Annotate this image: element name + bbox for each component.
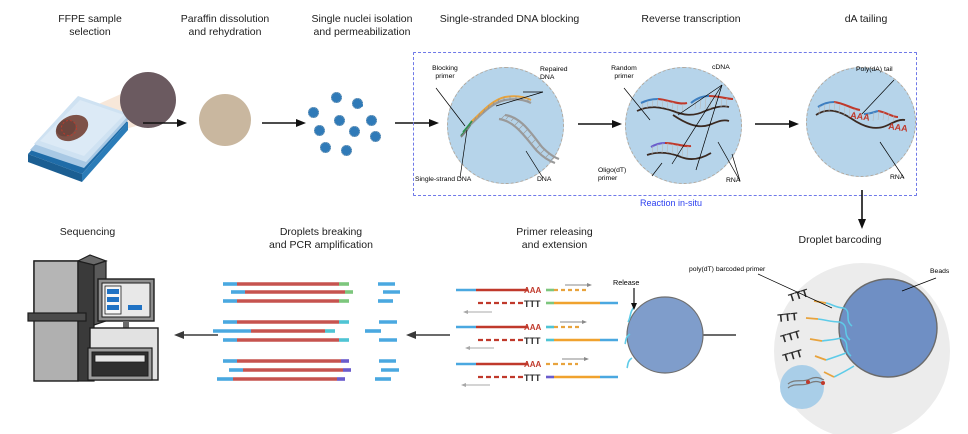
svg-text:AAA: AAA [524, 286, 542, 295]
callout-cdna: cDNA [712, 64, 752, 72]
nucleus-dot [366, 115, 377, 126]
arrow-rt-to-tailing [755, 118, 800, 130]
callout-random-primer: Random primer [598, 65, 650, 81]
paraffin-droplet [199, 94, 251, 146]
step-title-single-nuclei-isolation: Single nuclei isolation and permeabiliza… [288, 13, 436, 38]
nucleus-dot [331, 92, 342, 103]
callout-oligo-dt-primer: Oligo(dT) primer [598, 167, 656, 183]
step-title-da-tailing: dA tailing [806, 13, 926, 26]
arrow-ffpe-to-paraffin [143, 117, 188, 129]
svg-text:AAA: AAA [524, 323, 542, 332]
nucleus-dot [314, 125, 325, 136]
callout-dna: DNA [537, 176, 577, 184]
da-tailing-callout-lines [800, 58, 940, 188]
droplet-barcoding-illustration: TTT TTT TTT TTT TTT [740, 256, 968, 434]
step-title-droplet-barcoding: Droplet barcoding [778, 234, 902, 247]
svg-text:TTT: TTT [524, 299, 541, 309]
nucleus-dot [360, 104, 363, 107]
step-title-sequencing: Sequencing [30, 226, 145, 239]
primer-extension-strands: AAA TTT AAA TTT [440, 282, 640, 394]
reaction-in-situ-label: Reaction in-situ [640, 198, 702, 208]
svg-text:AAA: AAA [524, 360, 542, 369]
callout-single-strand-dna: Single-strand DNA [415, 176, 500, 184]
nucleus-dot [334, 115, 345, 126]
pcr-amplicon-products [213, 278, 403, 396]
step-title-reverse-transcription: Reverse transcription [612, 13, 770, 26]
sequencer-illustration [22, 255, 182, 385]
callout-rna-rt: RNA [726, 177, 760, 185]
step-title-ffpe-sample-selection: FFPE sample selection [20, 13, 160, 38]
single-nuclei-cluster [300, 85, 400, 175]
callout-beads: Beads [930, 268, 968, 276]
nucleus-dot [308, 107, 319, 118]
nucleus-dot [370, 131, 381, 142]
nucleus-dot [349, 126, 360, 137]
step-title-primer-releasing: Primer releasing and extension [487, 226, 622, 251]
callout-repaired-dna: Repaired DNA [540, 66, 596, 82]
nucleus-dot [320, 142, 331, 153]
step-title-paraffin-dissolution: Paraffin dissolution and rehydration [155, 13, 295, 38]
callout-poly-dt-barcoded-primer: poly(dT) barcoded primer [689, 266, 829, 274]
callout-poly-da-tail: Poly(dA) tail [856, 66, 926, 74]
nucleus-dot [341, 145, 352, 156]
arrow-tailing-to-barcoding [855, 190, 869, 230]
figure-canvas: FFPE sample selection Paraffin dissoluti… [0, 0, 968, 434]
arrow-release-to-pcr [404, 329, 450, 341]
svg-text:TTT: TTT [524, 373, 541, 383]
callout-blocking-primer: Blocking primer [418, 65, 472, 81]
step-title-ssdna-blocking: Single-stranded DNA blocking [422, 13, 597, 26]
step-title-droplets-breaking: Droplets breaking and PCR amplification [246, 226, 396, 251]
svg-text:TTT: TTT [524, 336, 541, 346]
svg-text:TTT: TTT [777, 311, 799, 325]
callout-rna-tailing: RNA [890, 174, 924, 182]
